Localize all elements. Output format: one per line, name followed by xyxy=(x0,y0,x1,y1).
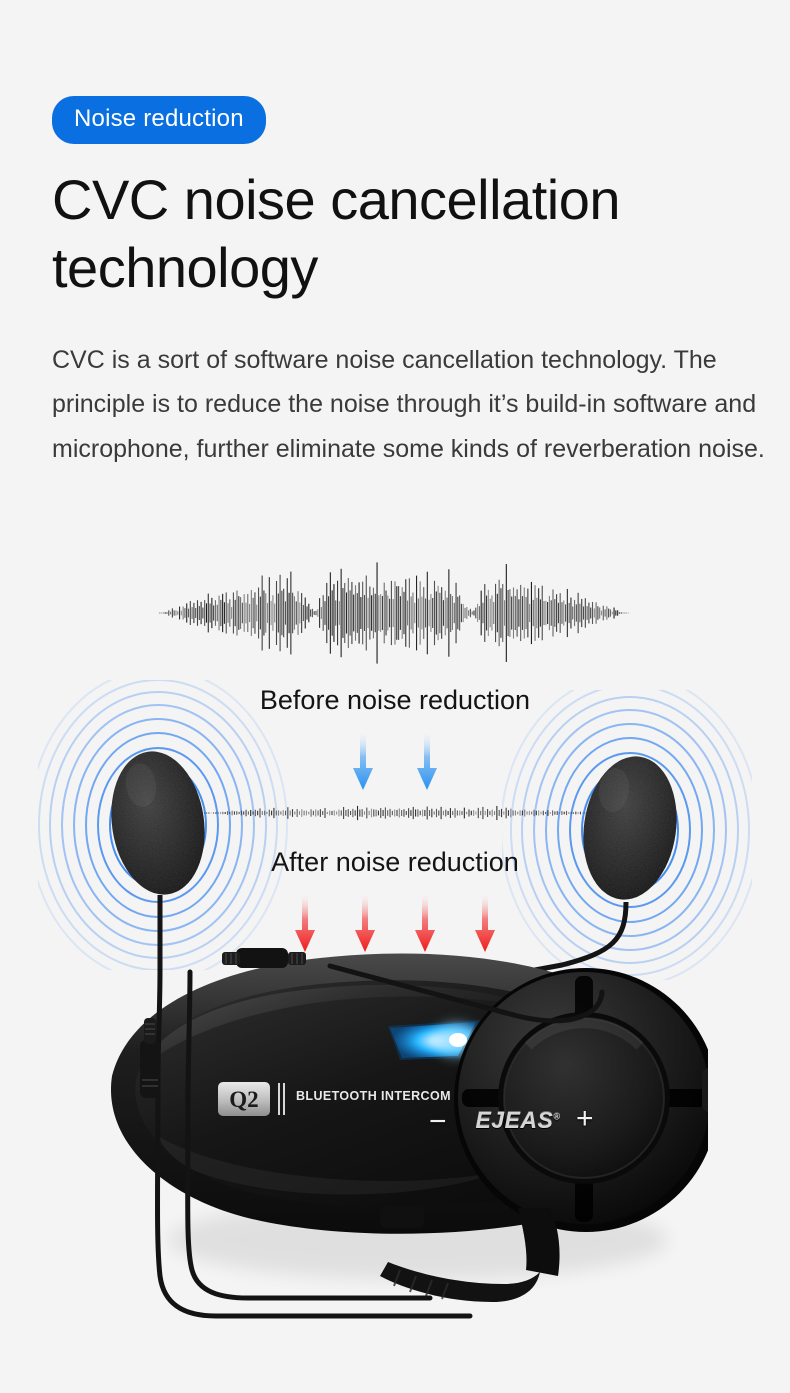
product-feature-page: Noise reduction CVC noise cancellation t… xyxy=(0,0,790,1393)
device-cables xyxy=(0,540,790,1393)
description-text: CVC is a sort of software noise cancella… xyxy=(52,338,780,471)
device-model-badge: Q2 xyxy=(218,1082,270,1116)
volume-up-button[interactable]: + xyxy=(576,1104,594,1134)
volume-down-button[interactable]: − xyxy=(429,1107,447,1137)
noise-reduction-badge: Noise reduction xyxy=(52,96,266,144)
page-title: CVC noise cancellation technology xyxy=(52,166,752,303)
noise-reduction-diagram: Before noise reduction After noise reduc… xyxy=(0,540,790,1393)
badge-divider-bars xyxy=(278,1083,285,1115)
brand-logo: EJEAS® xyxy=(472,1107,564,1134)
cable-connector xyxy=(222,948,306,968)
device-type-label: BLUETOOTH INTERCOM xyxy=(296,1089,451,1103)
